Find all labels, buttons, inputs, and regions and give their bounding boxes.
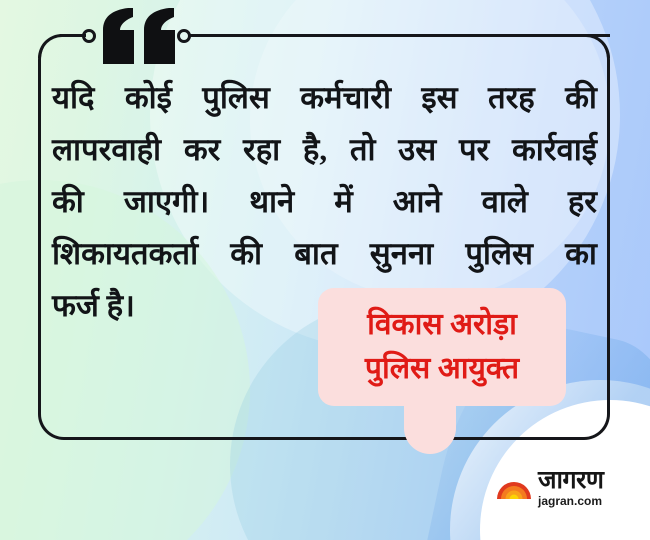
quote-word: की [230,228,262,280]
sunrise-icon [497,477,531,499]
quote-line-3: की जाएगी। थाने में आने वाले हर [52,176,597,228]
quote-word: तरह [488,72,535,124]
quote-word: में [334,176,353,228]
quote-word: पुलिस [202,72,270,124]
quote-line-1: यदि कोई पुलिस कर्मचारी इस तरह की [52,72,597,124]
frame-dot-right [177,29,191,43]
quote-word: आने [393,176,442,228]
double-quote-icon [101,8,177,64]
quote-word: वाले [482,176,528,228]
quote-word: शिकायतकर्ता [52,228,198,280]
quote-word: है, [303,124,327,176]
quote-word: कर्मचारी [300,72,391,124]
quote-word: इस [421,72,457,124]
quote-word: कर [184,124,221,176]
jagran-logo[interactable]: जागरण jagran.com [497,468,603,507]
attribution-designation: पुलिस आयुक्त [365,348,519,390]
quote-line-2: लापरवाही कर रहा है, तो उस पर कार्रवाई [52,124,597,176]
quote-word: सुनना [370,228,433,280]
quote-word: पर [459,124,489,176]
attribution-badge: विकास अरोड़ा पुलिस आयुक्त [318,288,566,406]
attribution-name: विकास अरोड़ा [367,304,517,346]
quote-word: कार्रवाई [512,124,597,176]
quote-word: जाएगी। [124,176,209,228]
frame-dot-left [82,29,96,43]
quote-word: तो [350,124,376,176]
quote-word: यदि [52,72,94,124]
frame-top-segment-right [188,34,610,37]
quote-word: उस [398,124,436,176]
quote-word: बात [294,228,337,280]
logo-brand-url: jagran.com [538,495,602,507]
quote-word: रहा [243,124,280,176]
frame-corner-top-right [586,34,610,58]
quote-word: लापरवाही [52,124,161,176]
quote-word: का [565,228,597,280]
quote-word: कोई [125,72,172,124]
quote-word: हर [568,176,597,228]
quote-word: की [565,72,597,124]
logo-text: जागरण jagran.com [538,468,603,507]
frame-corner-top-left [38,34,62,58]
quote-word: की [52,176,84,228]
quote-word: पुलिस [465,228,533,280]
quote-line-4: शिकायतकर्ता की बात सुनना पुलिस का [52,228,597,280]
logo-brand-hindi: जागरण [538,468,603,493]
quote-card: यदि कोई पुलिस कर्मचारी इस तरह की लापरवाह… [0,0,650,540]
quote-word: थाने [249,176,294,228]
attribution-badge-tail [404,398,456,454]
